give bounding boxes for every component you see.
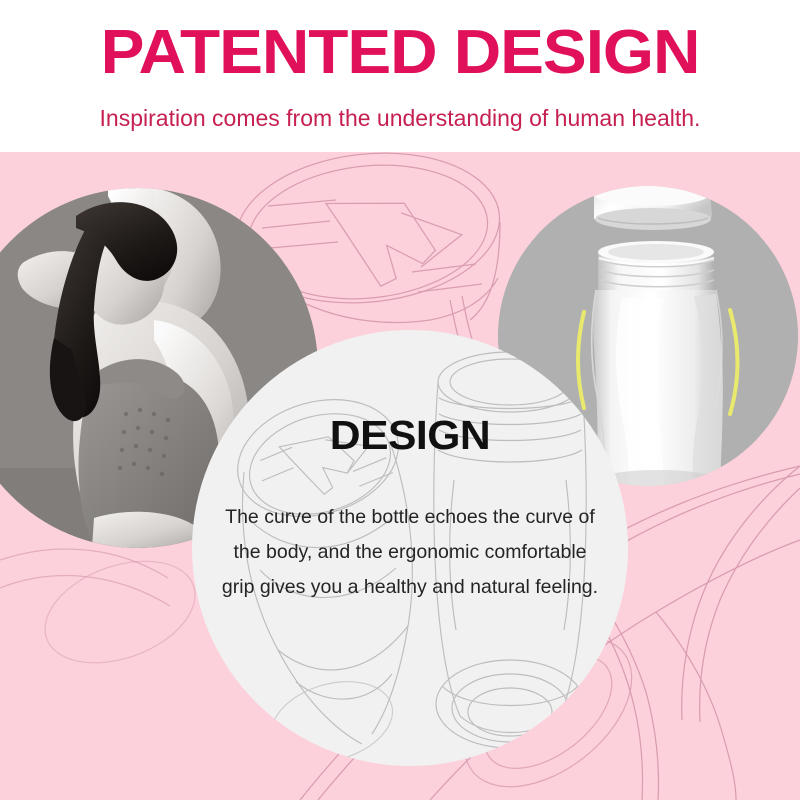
center-design-circle: DESIGN The curve of the bottle echoes th…: [192, 330, 628, 766]
page-title: PATENTED DESIGN: [0, 22, 800, 84]
header-band: PATENTED DESIGN Inspiration comes from t…: [0, 0, 800, 152]
center-body-line-2: the body, and the ergonomic comfortable: [210, 535, 610, 570]
center-heading: DESIGN: [192, 412, 628, 458]
patented-design-poster: DESIGN The curve of the bottle echoes th…: [0, 0, 800, 800]
center-body-line-1: The curve of the bottle echoes the curve…: [210, 500, 610, 535]
page-subtitle: Inspiration comes from the understanding…: [0, 104, 800, 132]
center-body-line-3: grip gives you a healthy and natural fee…: [210, 570, 610, 605]
center-body-text: The curve of the bottle echoes the curve…: [210, 500, 610, 605]
